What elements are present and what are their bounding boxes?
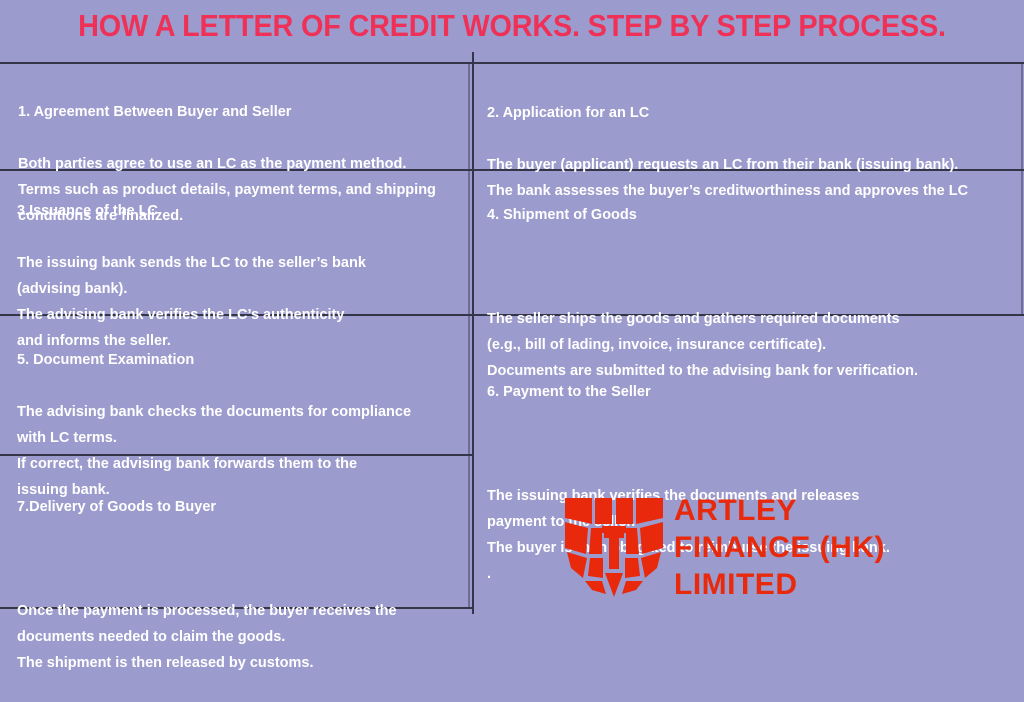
logo-wordmark: ARTLEY FINANCE (HK) LIMITED xyxy=(674,492,885,603)
step-heading: 4. Shipment of Goods xyxy=(487,202,1012,228)
infographic-canvas: HOW A LETTER OF CREDIT WORKS. STEP BY ST… xyxy=(0,0,1024,614)
step-heading: 5. Document Examination xyxy=(17,347,467,373)
step-body: Once the payment is processed, the buyer… xyxy=(17,598,467,676)
grid-row-divider-1 xyxy=(0,62,1024,64)
spacer xyxy=(487,254,1012,280)
step-heading: 3.Issuance of the LC xyxy=(17,198,467,224)
spacer xyxy=(17,546,467,572)
step-heading: 6. Payment to the Seller xyxy=(487,379,1012,405)
step-card-7: 7.Delivery of Goods to Buyer Once the pa… xyxy=(17,468,467,702)
grid-vertical-divider xyxy=(472,52,474,614)
artley-lion-shield-emblem-icon xyxy=(562,494,666,600)
logo-line-3: LIMITED xyxy=(674,566,885,603)
grid-vertical-hairline-left xyxy=(468,63,470,609)
step-heading: 1. Agreement Between Buyer and Seller xyxy=(18,99,468,125)
step-heading: 7.Delivery of Goods to Buyer xyxy=(17,494,467,520)
spacer xyxy=(487,431,1012,457)
artley-finance-logo: ARTLEY FINANCE (HK) LIMITED xyxy=(562,494,892,606)
logo-line-1: ARTLEY xyxy=(674,492,885,529)
logo-line-2: FINANCE (HK) xyxy=(674,529,885,566)
grid-vertical-hairline-right xyxy=(1021,63,1023,316)
page-title: HOW A LETTER OF CREDIT WORKS. STEP BY ST… xyxy=(36,6,988,46)
step-heading: 2. Application for an LC xyxy=(487,100,1012,126)
